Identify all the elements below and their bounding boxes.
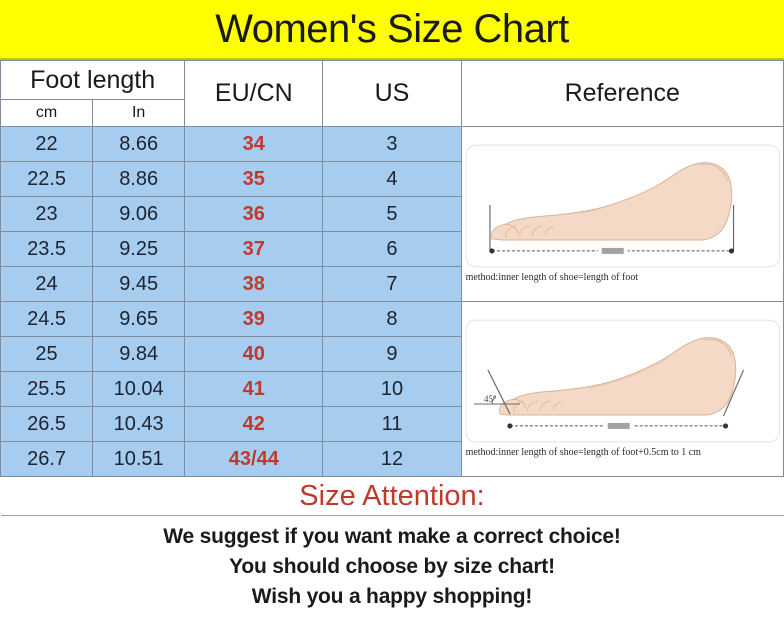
foot-side-view-flat-icon <box>462 143 783 271</box>
footer-note-line-3: Wish you a happy shopping! <box>0 582 784 612</box>
cell-in: 10.51 <box>93 442 185 477</box>
cell-in: 9.25 <box>93 232 185 267</box>
cell-us: 3 <box>323 127 461 162</box>
foot-side-view-angled-icon: 45° <box>462 318 783 446</box>
cell-us: 11 <box>323 407 461 442</box>
page-title: Women's Size Chart <box>215 9 569 49</box>
footer-note-line-1: We suggest if you want make a correct ch… <box>0 522 784 552</box>
cell-eu: 38 <box>185 267 323 302</box>
footer-note-line-2: You should choose by size chart! <box>0 552 784 582</box>
cell-in: 9.84 <box>93 337 185 372</box>
cell-cm: 25.5 <box>1 372 93 407</box>
size-attention-cell: Size Attention: <box>1 477 784 516</box>
cell-in: 9.65 <box>93 302 185 337</box>
cell-us: 10 <box>323 372 461 407</box>
cell-in: 10.04 <box>93 372 185 407</box>
cell-in: 10.43 <box>93 407 185 442</box>
cell-us: 9 <box>323 337 461 372</box>
cell-us: 12 <box>323 442 461 477</box>
cell-cm: 23 <box>1 197 93 232</box>
cell-us: 8 <box>323 302 461 337</box>
cell-cm: 24.5 <box>1 302 93 337</box>
table-row: 22 8.66 34 3 <box>1 127 784 162</box>
cell-in: 9.45 <box>93 267 185 302</box>
column-header-foot-length: Foot length <box>1 61 185 100</box>
column-header-cm: cm <box>1 100 93 127</box>
cell-eu: 35 <box>185 162 323 197</box>
page-title-banner: Women's Size Chart <box>0 0 784 60</box>
size-chart-table: Foot length EU/CN US Reference cm In 22 … <box>0 60 784 516</box>
size-attention-title: Size Attention: <box>1 482 784 511</box>
table-body: 22 8.66 34 3 <box>1 127 784 516</box>
footer-notes: We suggest if you want make a correct ch… <box>0 516 784 611</box>
table-row: 24.5 9.65 39 8 <box>1 302 784 337</box>
cell-us: 7 <box>323 267 461 302</box>
cell-eu: 41 <box>185 372 323 407</box>
cell-eu: 36 <box>185 197 323 232</box>
cell-eu: 37 <box>185 232 323 267</box>
cell-eu: 40 <box>185 337 323 372</box>
cell-cm: 22.5 <box>1 162 93 197</box>
cell-in: 8.86 <box>93 162 185 197</box>
column-header-us: US <box>323 61 461 127</box>
column-header-in: In <box>93 100 185 127</box>
cell-cm: 26.7 <box>1 442 93 477</box>
cell-cm: 24 <box>1 267 93 302</box>
cell-cm: 23.5 <box>1 232 93 267</box>
cell-in: 9.06 <box>93 197 185 232</box>
cell-us: 4 <box>323 162 461 197</box>
column-header-reference: Reference <box>461 61 783 127</box>
cell-cm: 25 <box>1 337 93 372</box>
cell-eu: 43/44 <box>185 442 323 477</box>
reference-figure-flat: method:inner length of shoe=length of fo… <box>461 127 783 302</box>
cell-in: 8.66 <box>93 127 185 162</box>
reference-caption-angled: method:inner length of shoe=length of fo… <box>462 446 783 460</box>
cell-cm: 26.5 <box>1 407 93 442</box>
cell-eu: 42 <box>185 407 323 442</box>
cell-us: 6 <box>323 232 461 267</box>
size-attention-row: Size Attention: <box>1 477 784 516</box>
cell-eu: 34 <box>185 127 323 162</box>
angle-label: 45° <box>484 394 497 404</box>
table-header: Foot length EU/CN US Reference cm In <box>1 61 784 127</box>
reference-figure-angled: 45° method:inner length of shoe=length o… <box>461 302 783 477</box>
cell-cm: 22 <box>1 127 93 162</box>
cell-us: 5 <box>323 197 461 232</box>
reference-caption-flat: method:inner length of shoe=length of fo… <box>462 271 783 285</box>
cell-eu: 39 <box>185 302 323 337</box>
column-header-eu-cn: EU/CN <box>185 61 323 127</box>
